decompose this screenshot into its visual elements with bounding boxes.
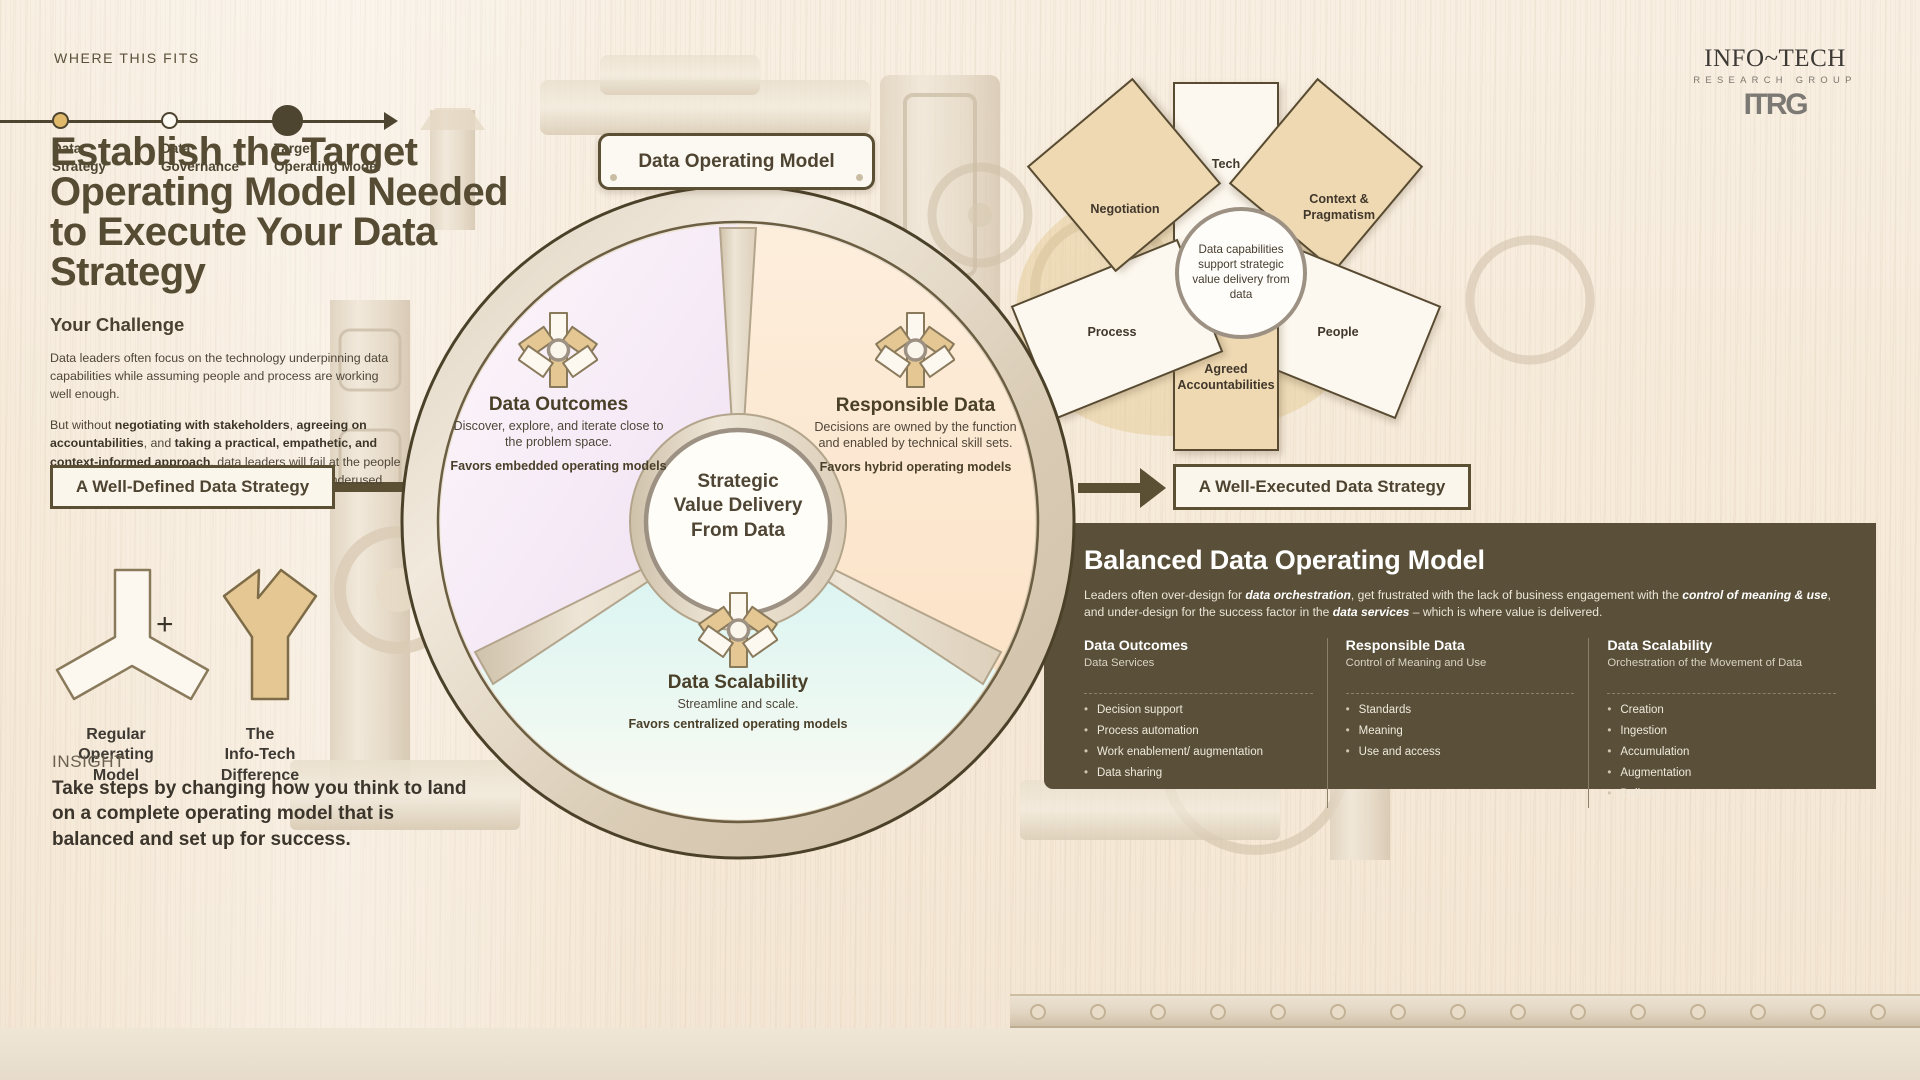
- seg1-favors: Favors hybrid operating models: [803, 460, 1028, 476]
- regular-operating-model-icon: [57, 570, 208, 699]
- data-operating-model-label: Data Operating Model: [638, 151, 834, 173]
- pinwheel-center: Data capabilities support strategic valu…: [1175, 207, 1307, 339]
- panel-column-0: Data OutcomesData ServicesDecision suppo…: [1084, 638, 1327, 808]
- seg1-desc: Decisions are owned by the function and …: [803, 420, 1028, 452]
- petal-label-tech: Tech: [1173, 157, 1279, 173]
- panel-column-list: StandardsMeaningUse and access: [1346, 693, 1575, 759]
- screw-icon-right: [856, 174, 863, 181]
- seg2-desc: Streamline and scale.: [613, 697, 863, 713]
- seg2-favors: Favors centralized operating models: [613, 717, 863, 733]
- seg2-title: Data Scalability: [613, 672, 863, 694]
- screw-icon-left: [610, 174, 617, 181]
- panel-lead: Leaders often over-design for data orche…: [1084, 587, 1850, 621]
- well-defined-strategy-label: A Well-Defined Data Strategy: [76, 477, 309, 497]
- seg1-title: Responsible Data: [803, 395, 1028, 417]
- capability-pinwheel: Tech Context & Pragmatism People Agreed …: [1045, 82, 1435, 462]
- segment-label-data-scalability: Data Scalability Streamline and scale. F…: [613, 672, 863, 733]
- y-shapes-svg: [50, 565, 350, 725]
- execution-connector: [1078, 483, 1148, 493]
- plus-icon: +: [156, 608, 174, 642]
- arrow-right-icon: [1140, 468, 1166, 508]
- petal-label-agreed-accountabilities: Agreed Accountabilities: [1163, 362, 1289, 393]
- pinwheel-center-text: Data capabilities support strategic valu…: [1179, 243, 1303, 302]
- list-item: Augmentation: [1607, 766, 1836, 780]
- timeline-dot-data-governance[interactable]: [161, 112, 178, 129]
- challenge-paragraph-1: Data leaders often focus on the technolo…: [50, 349, 402, 403]
- list-item: Data sharing: [1084, 766, 1313, 780]
- segment-label-data-outcomes: Data Outcomes Discover, explore, and ite…: [446, 394, 671, 475]
- timeline-arrow-icon: [384, 112, 398, 130]
- panel-column-2: Data ScalabilityOrchestration of the Mov…: [1588, 638, 1850, 808]
- petal-label-negotiation: Negotiation: [1067, 202, 1183, 218]
- segment-icon-data-outcomes: [518, 310, 598, 395]
- logo-line-2: RESEARCH GROUP: [1680, 74, 1870, 85]
- list-item: Process automation: [1084, 724, 1313, 738]
- petal-label-context-pragmatism: Context & Pragmatism: [1281, 192, 1397, 223]
- info-tech-difference-icon: [224, 570, 316, 699]
- list-item: Accumulation: [1607, 745, 1836, 759]
- seg0-desc: Discover, explore, and iterate close to …: [446, 419, 671, 451]
- list-item: Delivery: [1607, 787, 1836, 801]
- timeline-dot-data-strategy[interactable]: [52, 112, 69, 129]
- panel-column-list: Decision supportProcess automationWork e…: [1084, 693, 1313, 780]
- floor: [0, 1028, 1920, 1080]
- well-defined-strategy-box[interactable]: A Well-Defined Data Strategy: [50, 465, 335, 509]
- panel-column-title: Data Scalability: [1607, 638, 1836, 654]
- petal-label-people: People: [1285, 325, 1391, 341]
- operating-model-comparison: RegularOperatingModel TheInfo-TechDiffer…: [50, 565, 350, 745]
- segment-icon-responsible-data: [875, 310, 955, 395]
- list-item: Meaning: [1346, 724, 1575, 738]
- panel-column-title: Responsible Data: [1346, 638, 1575, 654]
- logo-line-3: ITRG: [1680, 88, 1870, 122]
- data-operating-model-wheel: StrategicValue DeliveryFrom Data Data Ou…: [398, 182, 1078, 862]
- panel-column-1: Responsible DataControl of Meaning and U…: [1327, 638, 1589, 808]
- panel-column-subtitle: Data Services: [1084, 656, 1313, 684]
- panel-column-list: CreationIngestionAccumulationAugmentatio…: [1607, 693, 1836, 801]
- list-item: Creation: [1607, 703, 1836, 717]
- well-executed-strategy-label: A Well-Executed Data Strategy: [1199, 477, 1446, 497]
- logo-line-1: INFO~TECH: [1680, 45, 1870, 73]
- list-item: Standards: [1346, 703, 1575, 717]
- seg0-title: Data Outcomes: [446, 394, 671, 416]
- list-item: Decision support: [1084, 703, 1313, 717]
- list-item: Ingestion: [1607, 724, 1836, 738]
- panel-column-subtitle: Orchestration of the Movement of Data: [1607, 656, 1836, 684]
- timeline-label: WHERE THIS FITS: [54, 50, 200, 66]
- info-tech-logo: INFO~TECH RESEARCH GROUP ITRG: [1680, 45, 1870, 122]
- panel-columns: Data OutcomesData ServicesDecision suppo…: [1084, 638, 1850, 808]
- wheel-hub-text: StrategicValue DeliveryFrom Data: [646, 470, 830, 543]
- balanced-model-panel: Balanced Data Operating Model Leaders of…: [1044, 523, 1876, 789]
- panel-column-title: Data Outcomes: [1084, 638, 1313, 654]
- seg0-favors: Favors embedded operating models: [446, 459, 671, 475]
- panel-title: Balanced Data Operating Model: [1084, 545, 1850, 576]
- data-operating-model-header[interactable]: Data Operating Model: [598, 133, 875, 190]
- list-item: Use and access: [1346, 745, 1575, 759]
- segment-icon-data-scalability: [698, 590, 778, 675]
- panel-column-subtitle: Control of Meaning and Use: [1346, 656, 1575, 684]
- conveyor-belt: [1010, 994, 1920, 1028]
- segment-label-responsible-data: Responsible Data Decisions are owned by …: [803, 395, 1028, 476]
- well-executed-strategy-box[interactable]: A Well-Executed Data Strategy: [1173, 464, 1471, 510]
- list-item: Work enablement/ augmentation: [1084, 745, 1313, 759]
